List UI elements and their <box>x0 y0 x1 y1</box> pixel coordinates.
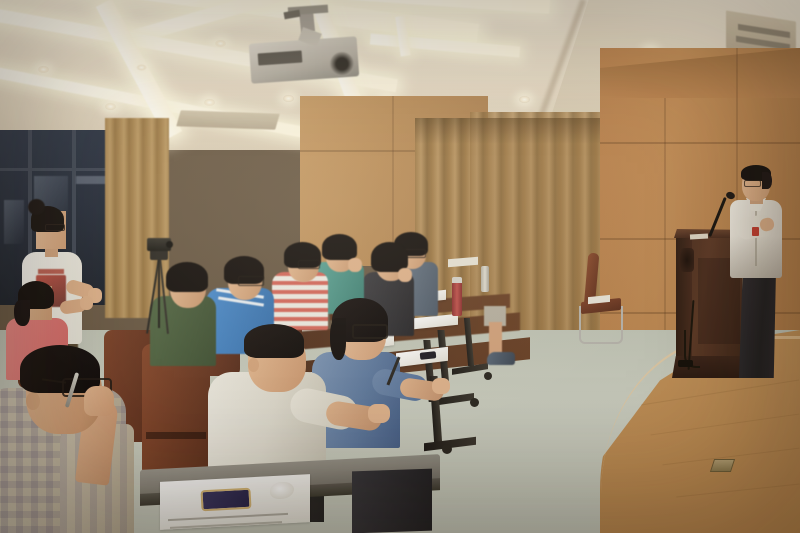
lectern-speaker-grille <box>680 248 694 272</box>
downlight-icon <box>283 95 294 102</box>
foreground-participant-hand <box>84 386 114 416</box>
glasses-icon <box>298 260 320 269</box>
projector-lens-icon <box>330 52 354 76</box>
downlight-icon <box>215 40 226 47</box>
speaker-badge <box>752 227 759 236</box>
tshirt-graphic <box>38 269 64 274</box>
red-thermos <box>452 282 462 316</box>
brass-floor-outlet <box>710 459 735 472</box>
table-castor <box>470 398 479 407</box>
thermos-cap <box>452 277 462 283</box>
glasses-icon <box>238 276 264 286</box>
downlight-icon <box>519 96 530 103</box>
audience-hair <box>14 300 30 326</box>
standing-participant-hand <box>80 296 93 310</box>
audience-hand <box>368 404 390 423</box>
speaker-hair <box>762 172 772 189</box>
downlight-icon <box>38 66 49 73</box>
seated-legs <box>489 322 502 356</box>
camera-lens-icon <box>166 241 173 248</box>
downlight-icon <box>136 64 147 71</box>
foreground-participant-ear <box>26 392 40 410</box>
window-mullion <box>0 168 112 171</box>
water-bottle <box>481 266 489 292</box>
audience-hair <box>322 234 357 260</box>
downlight-icon <box>105 103 116 110</box>
downlight-icon <box>204 99 215 106</box>
seated-person-dark-trousers <box>352 469 432 533</box>
audience-hand <box>432 378 450 394</box>
audience-hair <box>166 262 208 292</box>
chair-back-gap <box>146 432 206 439</box>
air-vent-icon <box>176 110 280 129</box>
table-castor <box>442 444 452 454</box>
audience-hand <box>398 268 412 282</box>
wall-panel-seam <box>600 142 800 144</box>
lectern-notes-paper <box>690 234 708 240</box>
gold-smartphone[interactable] <box>200 488 251 512</box>
empty-chair-frame <box>579 306 623 344</box>
cable-plug <box>678 360 693 367</box>
window-reflection <box>4 200 24 244</box>
tripod-leg <box>158 258 160 328</box>
audience-hand <box>348 258 362 272</box>
table-castor <box>484 372 492 380</box>
glasses-icon <box>352 324 388 339</box>
audience-hair <box>244 324 304 358</box>
shoe <box>487 352 515 365</box>
speaker-glasses-icon <box>744 180 761 187</box>
audience-hair <box>330 318 346 360</box>
glasses-icon <box>45 224 65 231</box>
speaker-trousers <box>739 270 776 378</box>
hair-bun <box>28 199 45 215</box>
audience-ear <box>248 358 259 372</box>
seminar-room-photograph: A speaker in a white short-sleeve shirt … <box>0 0 800 533</box>
